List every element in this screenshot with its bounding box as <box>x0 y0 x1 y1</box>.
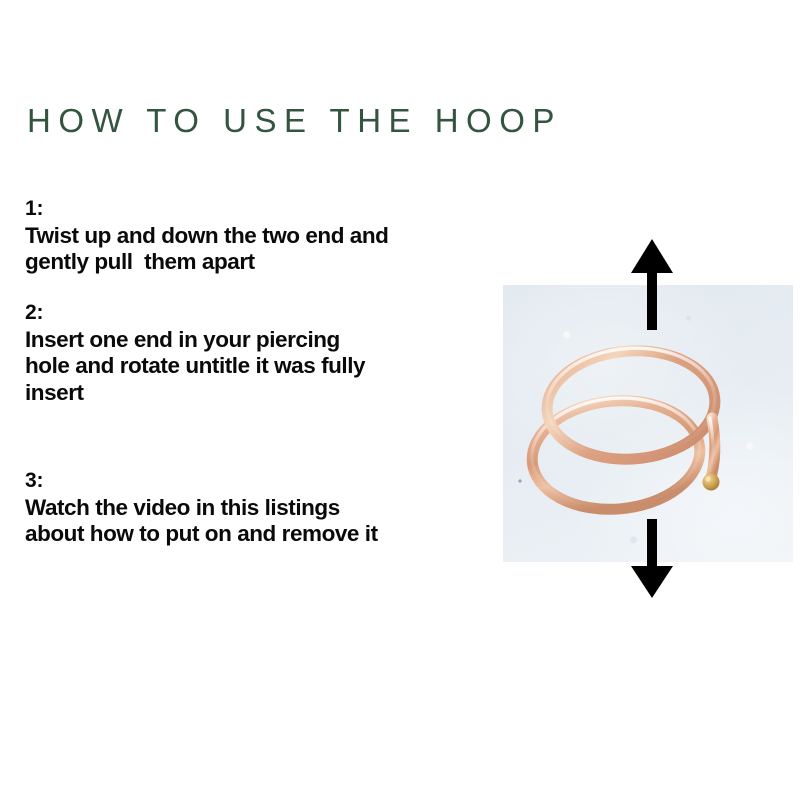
step-1-text: Twist up and down the two end and gently… <box>25 223 388 276</box>
step-item-2: 2: Insert one end in your piercing hole … <box>25 300 365 406</box>
step-item-1: 1: Twist up and down the two end and gen… <box>25 196 388 276</box>
pull-up-arrow-icon <box>630 238 674 330</box>
step-2-number: 2: <box>25 300 365 327</box>
hoop-instructions-infographic: HOW TO USE THE HOOP 1: Twist up and down… <box>0 0 800 800</box>
step-3-number: 3: <box>25 468 378 495</box>
step-3-text: Watch the video in this listings about h… <box>25 495 378 548</box>
step-item-3: 3: Watch the video in this listings abou… <box>25 468 378 548</box>
pull-down-arrow-icon <box>630 519 674 599</box>
hoop-ball-end <box>703 474 720 491</box>
step-1-number: 1: <box>25 196 388 223</box>
step-2-text: Insert one end in your piercing hole and… <box>25 327 365 406</box>
page-title: HOW TO USE THE HOOP <box>27 103 562 139</box>
